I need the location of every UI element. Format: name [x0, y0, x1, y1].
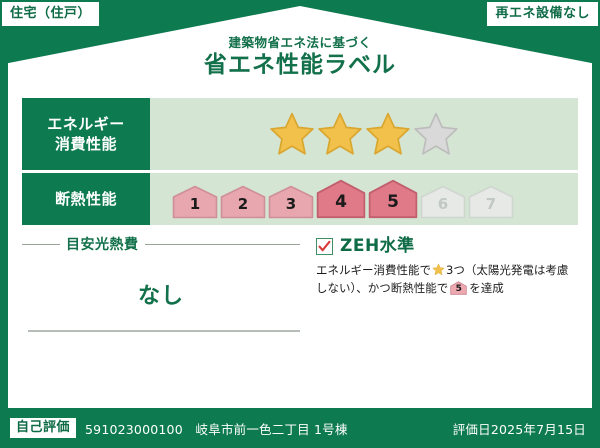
- page-title: 建築物省エネ法に基づく 省エネ性能ラベル: [0, 36, 600, 78]
- lower-section: 目安光熱費 なし ZEH水準 エネルギー消費性能で3つ（太陽光発電は考慮しな: [22, 234, 578, 346]
- self-evaluation-badge: 自己評価: [10, 418, 76, 438]
- energy-performance-row: エネルギー 消費性能: [22, 98, 578, 170]
- title-subtitle: 建築物省エネ法に基づく: [0, 36, 600, 50]
- title-main: 省エネ性能ラベル: [0, 52, 600, 78]
- star-icon-empty: [413, 111, 459, 157]
- energy-key-line-1: エネルギー: [47, 114, 125, 134]
- energy-performance-value: [150, 98, 578, 170]
- zeh-desc-text-4: を達成: [469, 281, 504, 295]
- grade-item-2: 2: [220, 185, 266, 219]
- grade-number: 5: [387, 194, 399, 219]
- grade-number: 4: [335, 194, 347, 219]
- grade-icon-inline: 5: [450, 281, 467, 295]
- zeh-block: ZEH水準 エネルギー消費性能で3つ（太陽光発電は考慮しない）、かつ断熱性能で5…: [300, 234, 578, 346]
- label-content: エネルギー 消費性能 断熱性能 1234567 目安光熱費: [22, 98, 578, 398]
- footer-id-address: 591023000100 岐阜市前一色二丁目 1号棟: [85, 419, 348, 438]
- grade-item-7: 7: [468, 185, 514, 219]
- grade-item-3: 3: [268, 185, 314, 219]
- grade-number: 3: [286, 197, 296, 219]
- grade-icon-inline-number: 5: [450, 285, 467, 294]
- grade-item-6: 6: [420, 185, 466, 219]
- grade-scale: 1234567: [172, 179, 514, 219]
- utility-cost-divider: [28, 330, 300, 332]
- star-icon-inline: [432, 263, 445, 276]
- footer-evaluation-date: 評価日2025年7月15日: [453, 419, 590, 438]
- insulation-performance-value: 1234567: [150, 173, 578, 225]
- renewable-energy-tag: 再エネ設備なし: [487, 2, 598, 26]
- utility-cost-block: 目安光熱費 なし: [22, 234, 300, 346]
- zeh-heading: ZEH水準: [316, 238, 578, 255]
- zeh-desc-text-1: エネルギー消費性能で: [316, 263, 431, 277]
- zeh-title: ZEH水準: [340, 238, 415, 255]
- insulation-key-label: 断熱性能: [55, 189, 117, 209]
- energy-key-line-2: 消費性能: [55, 134, 117, 154]
- check-icon: [318, 240, 331, 253]
- grade-item-1: 1: [172, 185, 218, 219]
- star-icon-filled: [317, 111, 363, 157]
- building-type-tag: 住宅（住戸）: [2, 2, 99, 26]
- grade-number: 1: [190, 197, 200, 219]
- star-icon-filled: [269, 111, 315, 157]
- insulation-performance-row: 断熱性能 1234567: [22, 173, 578, 225]
- insulation-performance-label-key: 断熱性能: [22, 173, 150, 225]
- star-icon-filled: [365, 111, 411, 157]
- energy-performance-label-key: エネルギー 消費性能: [22, 98, 150, 170]
- grade-item-4: 4: [316, 179, 366, 219]
- utility-cost-value: なし: [22, 278, 300, 310]
- zeh-checkbox[interactable]: [316, 238, 333, 255]
- utility-cost-heading: 目安光熱費: [22, 234, 300, 254]
- grade-item-5: 5: [368, 179, 418, 219]
- zeh-description: エネルギー消費性能で3つ（太陽光発電は考慮しない）、かつ断熱性能で5を達成: [316, 262, 578, 298]
- grade-number: 2: [238, 197, 248, 219]
- energy-performance-label: 住宅（住戸） 再エネ設備なし 建築物省エネ法に基づく 省エネ性能ラベル エネルギ…: [0, 0, 600, 448]
- star-rating: [269, 111, 459, 157]
- grade-number: 6: [438, 197, 448, 219]
- heading-rule-left: [22, 244, 60, 245]
- footer-bar: 自己評価 591023000100 岐阜市前一色二丁目 1号棟 評価日2025年…: [0, 408, 600, 448]
- utility-cost-title: 目安光熱費: [66, 234, 139, 254]
- zeh-desc-text-2: 3つ（太陽光発電: [446, 263, 534, 277]
- grade-number: 7: [486, 197, 496, 219]
- heading-rule-right: [145, 244, 301, 245]
